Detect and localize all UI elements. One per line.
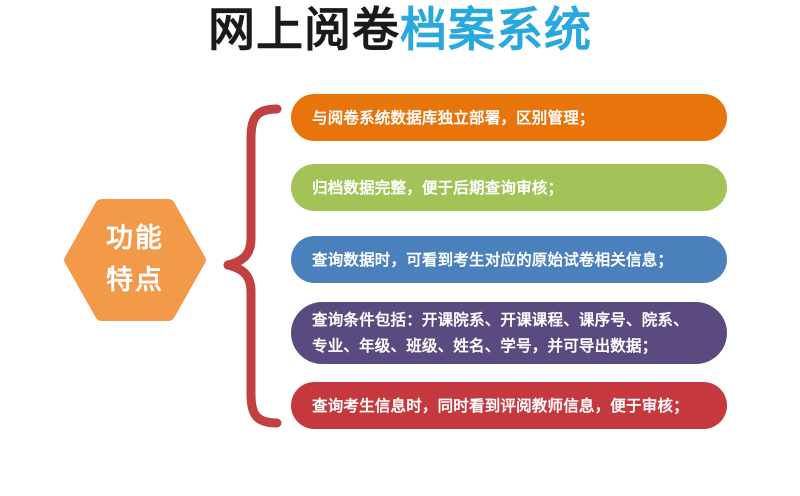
feature-bar-2[interactable]: 归档数据完整，便于后期查询审核； bbox=[291, 164, 727, 211]
feature-bar-1-line-1: 与阅卷系统数据库独立部署，区别管理； bbox=[312, 105, 595, 131]
feature-bar-4-line-2: 专业、年级、班级、姓名、学号，并可导出数据； bbox=[312, 333, 689, 359]
feature-bar-4-line-1: 查询条件包括：开课院系、开课课程、课序号、院系、 bbox=[312, 307, 689, 333]
page-title-accent: 档案系统 bbox=[400, 3, 592, 58]
hexagon-label-line-1: 功能 bbox=[62, 218, 208, 260]
feature-bar-3-line-1: 查询数据时，可看到考生对应的原始试卷相关信息； bbox=[312, 247, 673, 273]
curly-brace-icon bbox=[206, 104, 296, 429]
page-title-primary: 网上阅卷 bbox=[208, 3, 400, 58]
hexagon-label-line-2: 特点 bbox=[62, 260, 208, 302]
feature-bar-1-text: 与阅卷系统数据库独立部署，区别管理； bbox=[312, 105, 595, 131]
infographic-canvas: 网上阅卷档案系统 功能 特点 与阅卷系统数据库独立部署，区别管理； 归档数据完整… bbox=[0, 0, 800, 496]
feature-bar-3[interactable]: 查询数据时，可看到考生对应的原始试卷相关信息； bbox=[291, 236, 727, 283]
feature-bar-2-line-1: 归档数据完整，便于后期查询审核； bbox=[312, 175, 563, 201]
feature-bar-2-text: 归档数据完整，便于后期查询审核； bbox=[312, 175, 563, 201]
feature-bar-5-text: 查询考生信息时，同时看到评阅教师信息，便于审核； bbox=[312, 393, 689, 419]
feature-bar-3-text: 查询数据时，可看到考生对应的原始试卷相关信息； bbox=[312, 247, 673, 273]
feature-bar-4[interactable]: 查询条件包括：开课院系、开课课程、课序号、院系、 专业、年级、班级、姓名、学号，… bbox=[291, 302, 727, 364]
page-title: 网上阅卷档案系统 bbox=[0, 2, 800, 60]
feature-bar-1[interactable]: 与阅卷系统数据库独立部署，区别管理； bbox=[291, 94, 727, 141]
hexagon-label: 功能 特点 bbox=[62, 218, 208, 302]
feature-bar-4-text: 查询条件包括：开课院系、开课课程、课序号、院系、 专业、年级、班级、姓名、学号，… bbox=[312, 307, 689, 359]
feature-bar-5-line-1: 查询考生信息时，同时看到评阅教师信息，便于审核； bbox=[312, 393, 689, 419]
hexagon-badge: 功能 特点 bbox=[62, 196, 208, 324]
feature-bar-5[interactable]: 查询考生信息时，同时看到评阅教师信息，便于审核； bbox=[291, 382, 727, 429]
